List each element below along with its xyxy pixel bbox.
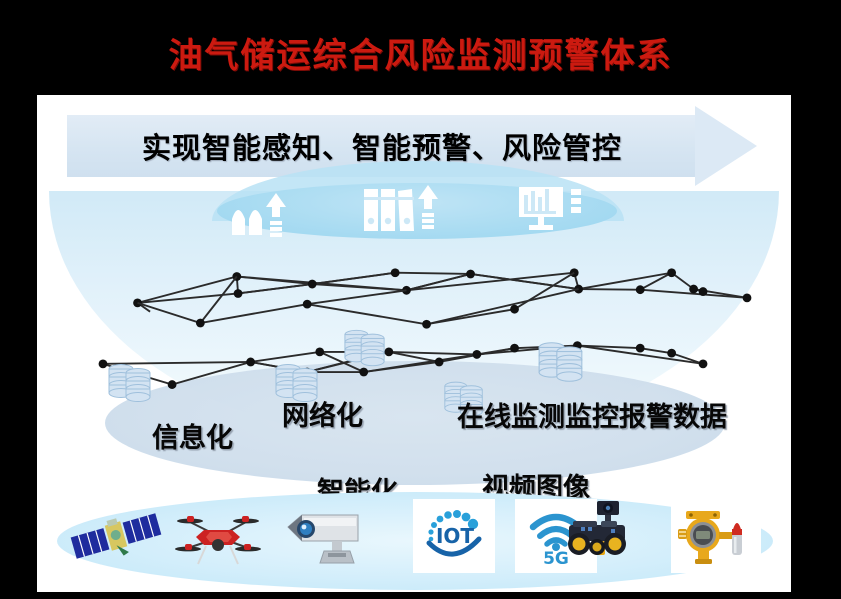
- device-robot[interactable]: [549, 495, 645, 569]
- slide-root: 油气储运综合风险监测预警体系 实现智能感知、智能预警、风险管控: [0, 0, 841, 599]
- device-drone[interactable]: [177, 499, 259, 573]
- content-panel: 实现智能感知、智能预警、风险管控: [37, 95, 791, 592]
- database-stack-icon: [537, 337, 585, 387]
- label-online-monitoring: 在线监测监控报警数据: [457, 395, 727, 434]
- dome-diagram: 信息化 网络化 在线监测监控报警数据 智能化 视频图像: [37, 173, 791, 473]
- cctv-camera-icon: [280, 503, 372, 569]
- device-satellite[interactable]: [75, 499, 157, 573]
- device-cctv-camera[interactable]: [285, 499, 367, 573]
- label-informatization: 信息化: [152, 416, 233, 455]
- gas-detector-icon: [676, 505, 756, 567]
- database-stack-icon: [343, 325, 387, 371]
- device-gas-detector[interactable]: [671, 499, 761, 573]
- database-stack-icon: [107, 359, 153, 407]
- page-title: 油气储运综合风险监测预警体系: [0, 28, 841, 77]
- label-networking: 网络化: [282, 394, 363, 433]
- iot-label: IOT: [436, 524, 474, 548]
- satellite-icon: [68, 505, 164, 567]
- device-iot[interactable]: IOT: [413, 499, 495, 573]
- inspection-robot-icon: [551, 497, 643, 567]
- drone-icon: [170, 504, 266, 568]
- iot-logo-icon: IOT: [419, 505, 489, 567]
